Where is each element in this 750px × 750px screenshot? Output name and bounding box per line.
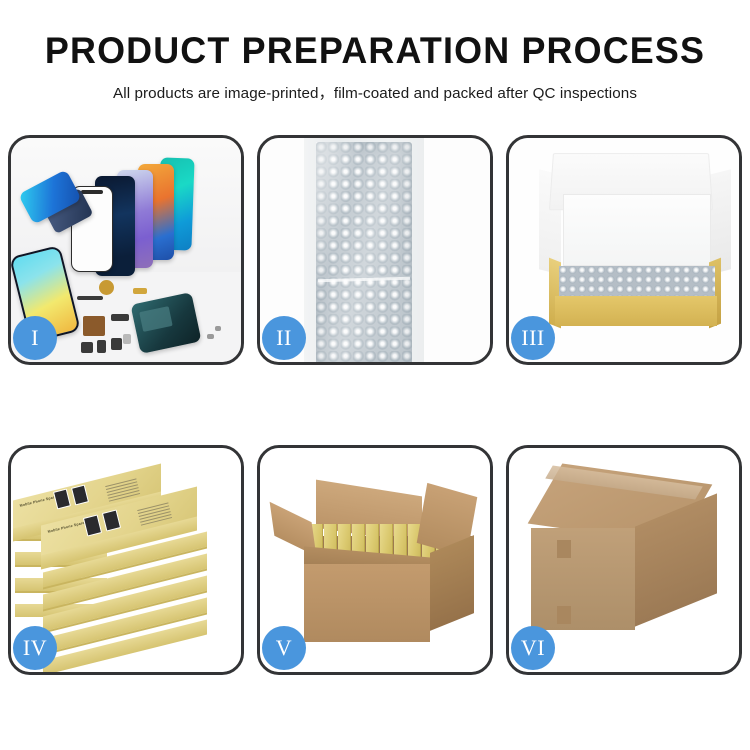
process-step-panel-4: Mobile Phone Spare Parts Mobile Phone Sp… (8, 445, 244, 675)
process-step-panel-2: II (257, 135, 493, 365)
process-step-panel-1: I (8, 135, 244, 365)
page-subtitle: All products are image-printed，film-coat… (0, 81, 750, 103)
step-badge-2: II (262, 316, 306, 360)
process-step-panel-5: V (257, 445, 493, 675)
step-badge-3: III (511, 316, 555, 360)
page-header: PRODUCT PREPARATION PROCESS All products… (0, 0, 750, 103)
step-badge-4: IV (13, 626, 57, 670)
step-badge-6: VI (511, 626, 555, 670)
page-title: PRODUCT PREPARATION PROCESS (11, 32, 739, 71)
process-step-grid: I II III (8, 135, 742, 675)
process-step-panel-6: VI (506, 445, 742, 675)
step-badge-1: I (13, 316, 57, 360)
step-badge-5: V (262, 626, 306, 670)
process-step-panel-3: III (506, 135, 742, 365)
